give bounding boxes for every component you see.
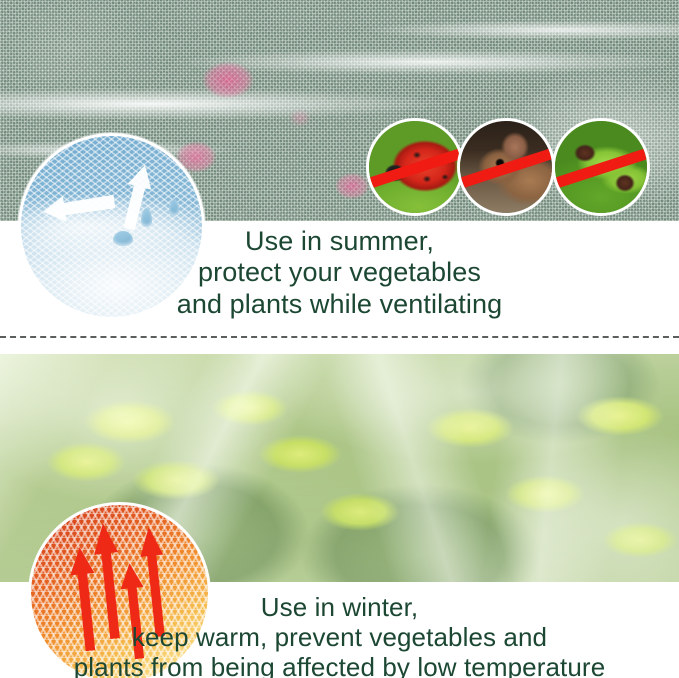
summer-caption-line-2: protect your vegetables: [0, 257, 679, 288]
winter-caption-line-2: keep warm, prevent vegetables and: [0, 622, 679, 652]
pest-circle-mouse: [457, 118, 555, 216]
water-droplet-icon: [169, 199, 179, 216]
summer-section: Use in summer, protect your vegetables a…: [0, 0, 679, 336]
winter-caption-line-3: plants from being affected by low temper…: [0, 652, 679, 678]
winter-caption: Use in winter, keep warm, prevent vegeta…: [0, 592, 679, 678]
section-divider: [0, 336, 679, 338]
winter-caption-line-1: Use in winter,: [0, 592, 679, 622]
pest-circle-caterpillar: [552, 118, 650, 216]
summer-caption-line-3: and plants while ventilating: [0, 289, 679, 320]
pest-circle-ladybug: [366, 118, 464, 216]
summer-caption: Use in summer, protect your vegetables a…: [0, 226, 679, 320]
airflow-arrow-left-icon: [42, 189, 117, 225]
product-infographic: Use in summer, protect your vegetables a…: [0, 0, 679, 678]
summer-caption-line-1: Use in summer,: [0, 226, 679, 257]
water-droplet-icon: [141, 208, 152, 227]
